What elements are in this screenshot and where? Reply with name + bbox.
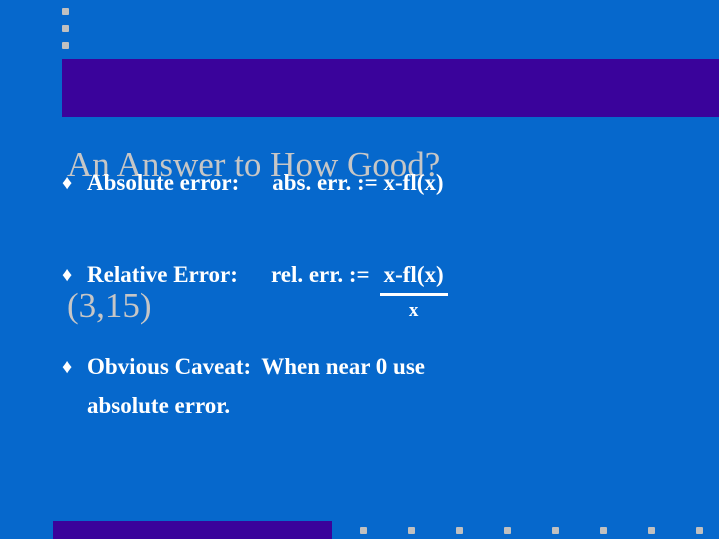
fraction-bar xyxy=(380,293,448,296)
bullet-text-obvious-caveat: Obvious Caveat:When near 0 use xyxy=(87,352,425,382)
bullet-label-absolute-error: Absolute error: xyxy=(87,168,239,198)
relative-error-fraction: x-fl(x)x xyxy=(380,260,448,322)
diamond-bullet-icon: ♦ xyxy=(62,168,87,198)
decorative-dot-icon xyxy=(62,8,69,15)
bullet-text-absolute-error: Absolute error:abs. err. := x-fl(x) xyxy=(87,168,444,198)
footer-accent-bar xyxy=(53,521,332,539)
decorative-dot-icon xyxy=(62,25,69,32)
fraction-denominator: x xyxy=(380,300,448,322)
bullet-text-relative-error: Relative Error:rel. err. :=x-fl(x)x xyxy=(87,260,448,322)
bullet-definition-prefix-relative-error: rel. err. := xyxy=(271,260,370,290)
decorative-dot-icon xyxy=(696,527,703,534)
bullet-definition-absolute-error: abs. err. := x-fl(x) xyxy=(272,168,443,198)
decorative-dot-icon xyxy=(360,527,367,534)
decorative-dot-icon xyxy=(648,527,655,534)
diamond-bullet-icon: ♦ xyxy=(62,352,87,382)
decorative-dot-icon xyxy=(504,527,511,534)
presentation-slide: An Answer to How Good? (3,15) ♦ Absolute… xyxy=(0,0,719,539)
diamond-bullet-icon: ♦ xyxy=(62,260,87,290)
bullet-label-obvious-caveat: Obvious Caveat: xyxy=(87,352,251,382)
decorative-dot-icon xyxy=(456,527,463,534)
bullet-definition-obvious-caveat: When near 0 use xyxy=(261,352,425,382)
decorative-dot-icon xyxy=(408,527,415,534)
bullet-item-absolute-error: ♦ Absolute error:abs. err. := x-fl(x) xyxy=(62,168,444,198)
bullet-item-relative-error: ♦ Relative Error:rel. err. :=x-fl(x)x xyxy=(62,260,448,322)
bullet-wrap-line-obvious-caveat: absolute error. xyxy=(87,391,230,421)
decorative-dot-icon xyxy=(600,527,607,534)
decorative-dot-icon xyxy=(552,527,559,534)
bullet-item-obvious-caveat: ♦ Obvious Caveat:When near 0 use xyxy=(62,352,425,382)
fraction-numerator: x-fl(x) xyxy=(380,260,448,290)
bullet-label-relative-error: Relative Error: xyxy=(87,260,238,290)
